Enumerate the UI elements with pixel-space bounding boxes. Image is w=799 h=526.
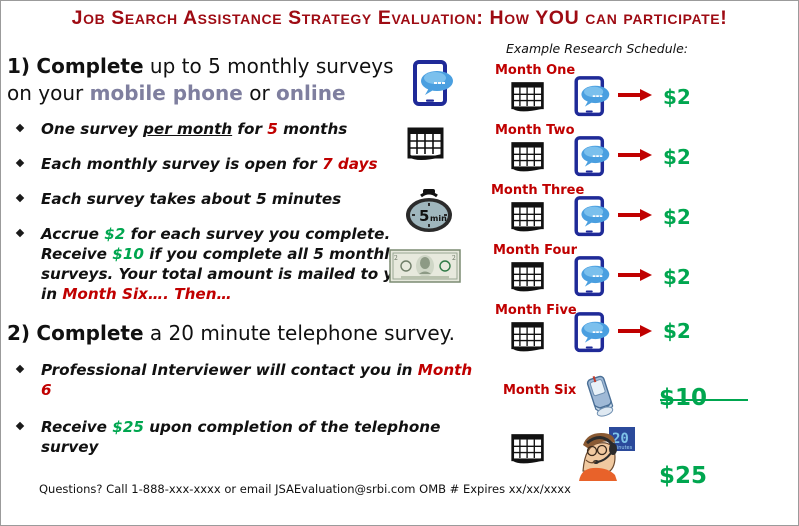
- bullet-diamond-icon: [16, 229, 24, 237]
- text-run: months: [278, 120, 347, 138]
- list-item: Professional Interviewer will contact yo…: [7, 360, 477, 400]
- calendar-icon: [509, 199, 547, 235]
- calendar-icon: [509, 319, 547, 355]
- heading-2-number: 2): [7, 321, 30, 345]
- calendar-icon: [509, 139, 547, 175]
- heading-1-number: 1): [7, 54, 30, 78]
- schedule-row: Month Four $2: [471, 243, 798, 297]
- schedule-amount: $2: [663, 85, 691, 109]
- bullet-text: Receive $25 upon completion of the telep…: [41, 418, 440, 456]
- text-run: $25: [112, 418, 144, 436]
- text-run: per month: [143, 120, 232, 138]
- text-run: Each survey takes about 5 minutes: [41, 190, 341, 208]
- heading-2: 2) Complete a 20 minute telephone survey…: [7, 320, 477, 346]
- dollar-bill-icon: 2 2: [389, 249, 461, 283]
- red-arrow-icon: [618, 325, 652, 337]
- bullet-diamond-icon: [16, 194, 24, 202]
- schedule-month-label: Month Four: [493, 243, 577, 258]
- mobile-phone-icon: [583, 373, 619, 419]
- text-run: 5: [267, 120, 278, 138]
- footer-note: Questions? Call 1-888-xxx-xxxx or email …: [39, 482, 571, 496]
- bullet-text: Each monthly survey is open for 7 days: [41, 155, 378, 173]
- text-run: for: [232, 120, 267, 138]
- text-run: Receive: [41, 418, 112, 436]
- tablet-chat-icon: [571, 75, 611, 119]
- schedule-month-label: Month Two: [495, 123, 575, 138]
- tablet-chat-icon: [571, 255, 611, 299]
- stopwatch-number: 5: [419, 207, 429, 225]
- text-run: 7 days: [322, 155, 377, 173]
- heading-1-bold: Complete: [36, 54, 143, 78]
- text-run: Each monthly survey is open for: [41, 155, 322, 173]
- red-arrow-icon: [618, 149, 652, 161]
- list-item: Accrue $2 for each survey you complete. …: [7, 224, 421, 304]
- poster-root: Job Search Assistance Strategy Evaluatio…: [0, 0, 799, 526]
- red-arrow-icon: [618, 89, 652, 101]
- list-item: Receive $25 upon completion of the telep…: [7, 417, 477, 457]
- calendar-icon: [405, 123, 447, 165]
- bullet-diamond-icon: [16, 422, 24, 430]
- text-run: $2: [104, 225, 125, 243]
- heading-2-bold: Complete: [36, 321, 143, 345]
- text-run: Accrue: [41, 225, 104, 243]
- schedule-month-label: Month Six: [503, 383, 576, 398]
- schedule-amount: $2: [663, 205, 691, 229]
- heading-1: 1) Complete up to 5 monthly surveys on y…: [7, 53, 417, 107]
- bullet-diamond-icon: [16, 124, 24, 132]
- schedule-amount: $2: [663, 145, 691, 169]
- bullet-list-2: Professional Interviewer will contact yo…: [7, 360, 477, 457]
- calendar-icon: [509, 431, 547, 467]
- svg-text:2: 2: [394, 255, 398, 262]
- svg-text:2: 2: [452, 255, 456, 262]
- bullet-diamond-icon: [16, 159, 24, 167]
- text-run: $10: [112, 245, 144, 263]
- schedule-row: Month Three $2: [471, 183, 798, 237]
- heading-1-mid: or: [243, 81, 276, 105]
- schedule-month-label: Month Five: [495, 303, 577, 318]
- tablet-chat-icon: [571, 311, 611, 355]
- bullet-text: Each survey takes about 5 minutes: [41, 190, 341, 208]
- page-title: Job Search Assistance Strategy Evaluatio…: [1, 7, 798, 30]
- tablet-chat-icon: [409, 59, 455, 109]
- text-run: Month Six…. Then…: [62, 285, 231, 303]
- bullet-text: One survey per month for 5 months: [41, 120, 347, 138]
- red-arrow-icon: [618, 209, 652, 221]
- schedule-row: Month One $2: [471, 63, 798, 117]
- tablet-chat-icon: [571, 195, 611, 239]
- bullet-text: Professional Interviewer will contact yo…: [41, 361, 472, 399]
- calendar-icon: [509, 79, 547, 115]
- red-arrow-icon: [618, 269, 652, 281]
- heading-1-highlight-mobile: mobile phone: [90, 81, 243, 105]
- schedule-month-label: Month One: [495, 63, 575, 78]
- heading-2-rest: a 20 minute telephone survey.: [144, 321, 455, 345]
- schedule-amount: $2: [663, 319, 691, 343]
- schedule-amount: $25: [659, 463, 707, 489]
- schedule-amount: $2: [663, 265, 691, 289]
- heading-1-highlight-online: online: [276, 81, 346, 105]
- calendar-icon: [509, 259, 547, 295]
- text-run: One survey: [41, 120, 143, 138]
- interviewer-icon: 20 minutes: [575, 425, 637, 481]
- tablet-chat-icon: [571, 135, 611, 179]
- schedule-row: Month Six $10: [471, 373, 798, 427]
- schedule-row: Month Five $2: [471, 303, 798, 357]
- text-run: Professional Interviewer will contact yo…: [41, 361, 418, 379]
- stopwatch-unit: min: [430, 214, 447, 223]
- schedule-amount: $10: [659, 385, 707, 411]
- schedule-heading: Example Research Schedule:: [506, 41, 688, 56]
- bullet-text: Accrue $2 for each survey you complete. …: [41, 225, 415, 303]
- bullet-diamond-icon: [16, 365, 24, 373]
- stopwatch-icon: 5 min: [401, 187, 457, 235]
- schedule-row: Month Two $2: [471, 123, 798, 177]
